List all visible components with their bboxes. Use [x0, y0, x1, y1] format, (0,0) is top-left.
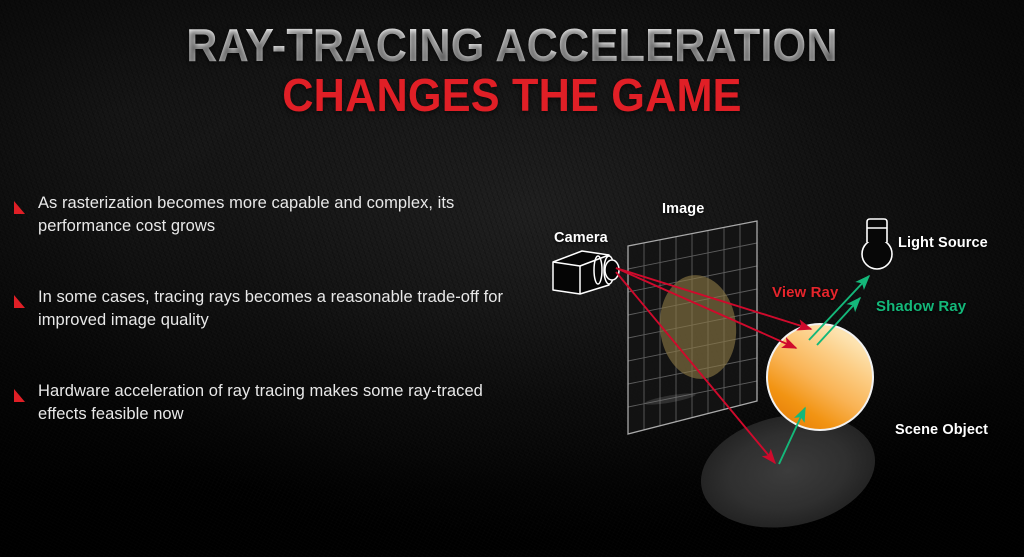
triangle-bullet-icon [14, 295, 25, 308]
list-item: Hardware acceleration of ray tracing mak… [14, 380, 514, 427]
bullet-text: Hardware acceleration of ray tracing mak… [38, 380, 514, 427]
slide-title-block: RAY-TRACING ACCELERATION CHANGES THE GAM… [0, 22, 1024, 120]
ground-shadow [691, 400, 885, 540]
list-item: As rasterization becomes more capable an… [14, 192, 514, 239]
light-bulb-icon [862, 219, 892, 269]
view-ray-label: View Ray [772, 284, 838, 301]
image-plane-grid [628, 221, 757, 434]
scene-sphere [767, 324, 873, 430]
triangle-bullet-icon [14, 389, 25, 402]
image-label: Image [662, 201, 704, 217]
ray-tracing-diagram: Camera Image Light Source View Ray Shado… [520, 180, 1024, 540]
bullet-text: In some cases, tracing rays becomes a re… [38, 286, 514, 333]
bullet-list: As rasterization becomes more capable an… [14, 192, 514, 474]
page-title-primary: RAY-TRACING ACCELERATION [31, 22, 994, 70]
triangle-bullet-icon [14, 201, 25, 214]
slide-root: RAY-TRACING ACCELERATION CHANGES THE GAM… [0, 0, 1024, 557]
light-source-label: Light Source [898, 235, 988, 251]
list-item: In some cases, tracing rays becomes a re… [14, 286, 514, 333]
camera-label: Camera [554, 230, 608, 246]
scene-object-label: Scene Object [895, 422, 988, 438]
bullet-text: As rasterization becomes more capable an… [38, 192, 514, 239]
shadow-ray-label: Shadow Ray [876, 298, 966, 315]
page-title-secondary: CHANGES THE GAME [31, 71, 994, 120]
camera-icon [553, 251, 619, 294]
